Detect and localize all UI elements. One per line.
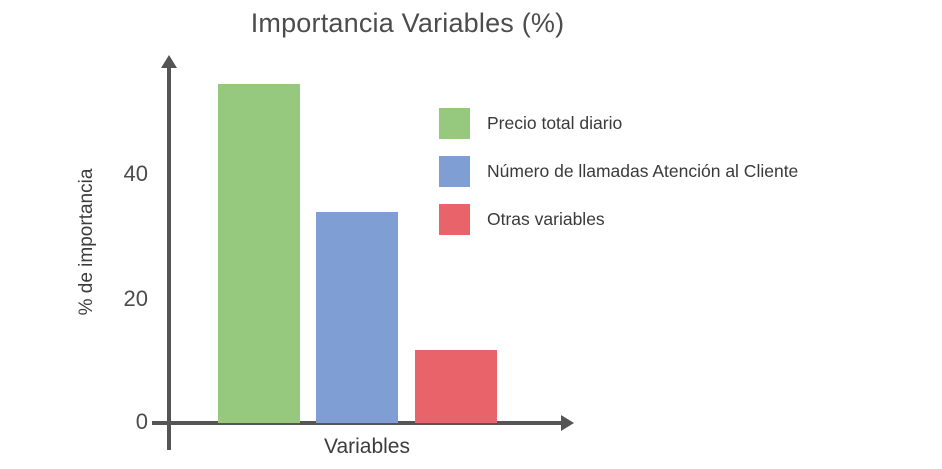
bar-1	[218, 84, 300, 423]
legend-label-3: Otras variables	[487, 209, 605, 230]
chart-canvas: Importancia Variables (%) 40 20 0 % de i…	[0, 0, 942, 469]
legend-item-3: Otras variables	[439, 195, 798, 243]
legend-item-2: Número de llamadas Atención al Cliente	[439, 147, 798, 195]
legend-swatch-icon-2	[439, 156, 470, 187]
x-axis-title: Variables	[272, 435, 462, 459]
bar-2	[316, 212, 398, 423]
bar-3	[415, 350, 497, 423]
legend-swatch-icon-1	[439, 108, 470, 139]
legend-label-2: Número de llamadas Atención al Cliente	[487, 161, 798, 182]
chart-legend: Precio total diarioNúmero de llamadas At…	[439, 99, 798, 243]
legend-swatch-icon-3	[439, 204, 470, 235]
legend-item-1: Precio total diario	[439, 99, 798, 147]
legend-label-1: Precio total diario	[487, 113, 622, 134]
